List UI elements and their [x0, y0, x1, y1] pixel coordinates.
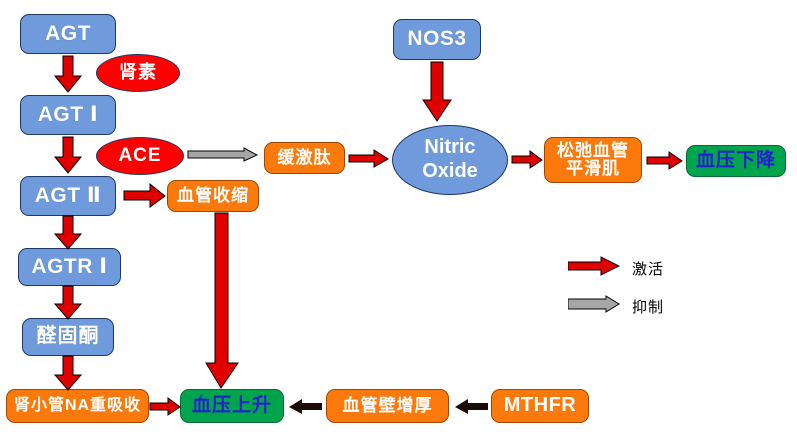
inhibition-arrow-icon [568, 294, 620, 319]
node-ace[interactable]: ACE [96, 137, 184, 175]
pathway-diagram: AGT 肾素 AGT Ⅰ ACE AGT Ⅱ 血管收缩 AGTR Ⅰ 醛固酮 肾… [0, 0, 797, 438]
arrow-bradykinin-to-nitric-oxide [349, 150, 389, 168]
arrow-mthfr-to-wall-thickening [455, 399, 489, 415]
node-renin[interactable]: 肾素 [96, 54, 180, 92]
legend-label-activation: 激活 [632, 258, 664, 279]
legend-item-inhibition: 抑制 [568, 294, 664, 319]
arrow-ace-inhibits-bradykinin [188, 148, 258, 162]
arrow-wall-thickening-to-bp-up [289, 399, 323, 415]
node-agt[interactable]: AGT [20, 14, 116, 54]
activation-arrow-icon [568, 256, 620, 281]
node-mthfr[interactable]: MTHFR [491, 389, 589, 423]
node-agtr-1[interactable]: AGTR Ⅰ [18, 248, 121, 286]
node-aldosterone[interactable]: 醛固酮 [22, 318, 114, 356]
arrow-na-reabsorption-to-bp-up [150, 398, 181, 416]
legend-label-inhibition: 抑制 [632, 296, 664, 317]
arrow-agt-to-agt1 [54, 56, 82, 93]
legend-item-activation: 激活 [568, 256, 664, 281]
node-agt-2[interactable]: AGT Ⅱ [20, 176, 116, 216]
node-tubular-na-reabsorption[interactable]: 肾小管NA重吸收 [6, 389, 149, 423]
node-blood-pressure-up[interactable]: 血压上升 [180, 389, 284, 423]
node-bradykinin[interactable]: 缓激肽 [264, 142, 345, 174]
node-nitric-oxide[interactable]: Nitric Oxide [392, 125, 508, 195]
node-blood-pressure-down[interactable]: 血压下降 [686, 145, 786, 177]
arrow-vasoconstriction-to-bp-up [205, 213, 239, 389]
node-smooth-muscle-relaxation[interactable]: 松弛血管 平滑肌 [544, 137, 642, 183]
node-vasoconstriction[interactable]: 血管收缩 [167, 180, 259, 212]
node-vessel-wall-thickening[interactable]: 血管壁增厚 [326, 389, 449, 423]
arrow-agt2-to-vasoconstriction [124, 184, 166, 208]
arrow-nitric-oxide-to-relaxation [512, 151, 543, 169]
arrow-nos3-to-nitric-oxide [422, 62, 452, 122]
node-agt-1[interactable]: AGT Ⅰ [20, 95, 116, 135]
arrow-agtr1-to-aldosterone [54, 286, 82, 320]
arrow-agt2-to-agtr1 [54, 216, 82, 250]
arrow-aldosterone-to-na-reabsorption [54, 356, 82, 391]
arrow-relaxation-to-bp-down [647, 152, 683, 170]
node-nos3[interactable]: NOS3 [393, 19, 481, 60]
arrow-agt1-to-agt2 [54, 137, 82, 174]
